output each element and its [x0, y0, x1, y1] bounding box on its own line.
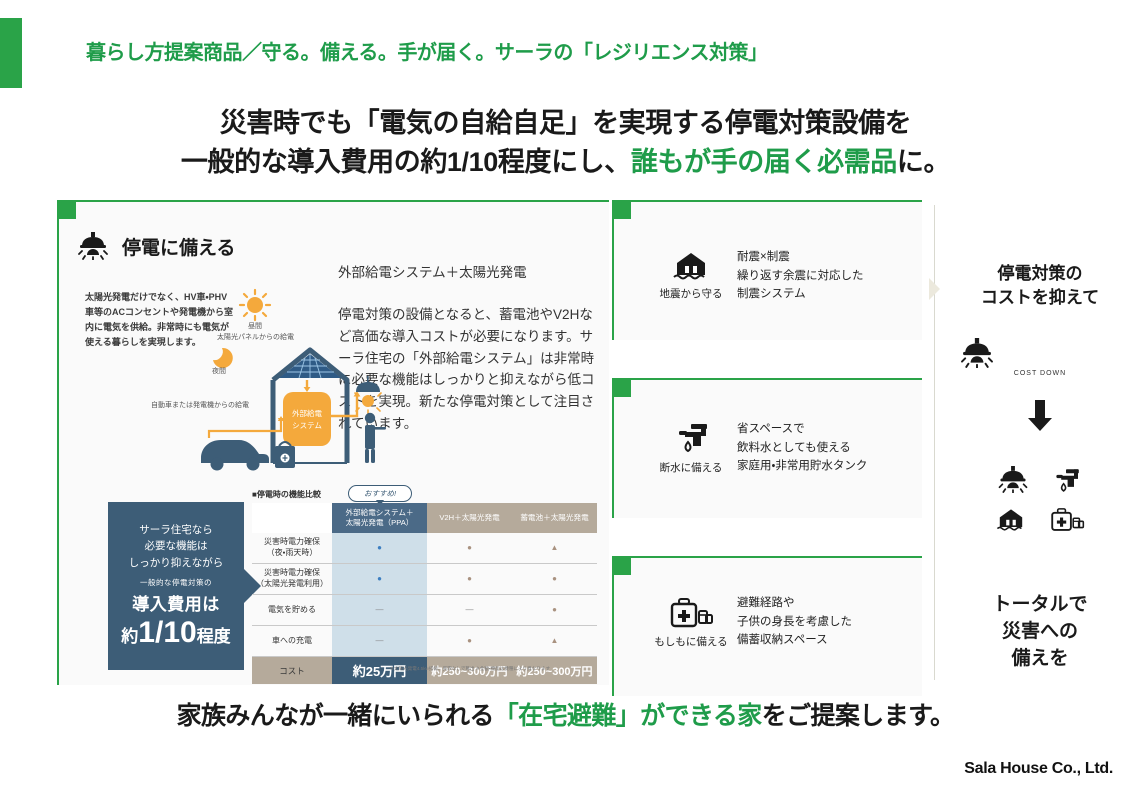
faucet-icon — [645, 420, 737, 456]
feature-water: 断水に備える 省スペースで 飲料水としても使える 家庭用・非常用貯水タンク — [645, 420, 867, 476]
feature-text: 省スペースで 飲料水としても使える 家庭用・非常用貯水タンク — [737, 420, 867, 476]
page-headline: 災害時でも「電気の自給自足」を実現する停電対策設備を 一般的な導入費用の約1/1… — [0, 104, 1131, 182]
feature-text: 耐震×制震 繰り返す余震に対応した 制震システム — [737, 248, 864, 304]
svg-text:システム: システム — [292, 421, 322, 430]
car-icon — [201, 440, 269, 471]
feature-text-line2: 子供の身長を考慮した — [737, 613, 852, 632]
panel-top-border — [612, 378, 922, 380]
cell-ppa: ● — [332, 533, 427, 564]
headline-line-2: 一般的な導入費用の約1/10程度にし、誰もが手の届く必需品に。 — [0, 143, 1131, 182]
feature-text-line3: 制震システム — [737, 285, 864, 304]
right-column-footer-line1: トータルで — [960, 592, 1120, 619]
table-header-battery: 蓄電池＋太陽光発電 — [512, 503, 597, 533]
green-accent-bar — [0, 18, 22, 88]
sun-icon — [240, 290, 270, 320]
table-header-blank — [252, 503, 332, 533]
panel-corner-marker — [612, 556, 631, 575]
headline-line-1: 災害時でも「電気の自給自足」を実現する停電対策設備を — [0, 104, 1131, 143]
cost-callout-line5: 導入費用は — [132, 590, 220, 615]
feature-text-line2: 繰り返す余震に対応した — [737, 267, 864, 286]
cost-row-label: コスト — [252, 657, 332, 685]
left-panel-heading: 停電に備える — [78, 232, 235, 260]
row-label: 車への充電 — [252, 626, 332, 657]
house-power-diagram: 外部給電 システム — [195, 288, 425, 478]
row-label: 電気を貯める — [252, 595, 332, 626]
person-figure — [365, 413, 386, 463]
right-column-title-line1: 停電対策の — [960, 262, 1120, 286]
company-logo-text: Sala House Co., Ltd. — [964, 760, 1113, 778]
tagline-part-a: 家族みんなが一緒にいられる — [177, 702, 494, 730]
moon-icon — [213, 348, 233, 368]
diagram-moon-label: 夜間 — [199, 366, 239, 376]
left-panel-subheading: 外部給電システム＋太陽光発電 — [338, 262, 600, 284]
tagline-part-d: をご提案します。 — [762, 702, 955, 730]
panel-left-border — [612, 378, 614, 518]
panel-left-border — [57, 200, 59, 685]
feature-stockpile: もしもに備える 避難経路や 子供の身長を考慮した 備蓄収納スペース — [645, 594, 852, 650]
first-aid-kit-icon — [1049, 505, 1085, 533]
feature-text-line1: 省スペースで — [737, 420, 867, 439]
headline-line-2-accent: 誰もが手の届く必需品 — [631, 147, 897, 177]
panel-corner-marker — [612, 378, 631, 397]
cell-battery: ▲ — [512, 626, 597, 657]
cost-callout-line4: 一般的な停電対策の — [140, 577, 212, 588]
row-label: 災害時電力確保 （夜・雨天時） — [252, 533, 332, 564]
down-arrow-icon — [960, 400, 1120, 432]
feature-text-line1: 避難経路や — [737, 594, 852, 613]
panel-top-border — [612, 200, 922, 202]
first-aid-kit-icon — [645, 594, 737, 630]
cell-v2h: ● — [427, 564, 512, 595]
right-column-rail-notch — [929, 278, 940, 300]
faucet-icon — [1050, 466, 1082, 495]
feature-icon-label: 地震から守る — [645, 286, 737, 301]
panel-corner-marker — [612, 200, 631, 219]
panel-corner-marker — [57, 200, 76, 219]
house-flood-icon — [995, 505, 1027, 533]
kicker-text: 暮らし方提案商品／守る。備える。手が届く。サーラの「レジリエンス対策」 — [86, 36, 768, 65]
headline-line-2-plain: 一般的な導入費用の約1/10程度にし、 — [181, 147, 631, 177]
feature-text-line2: 飲料水としても使える — [737, 439, 867, 458]
summary-icon-row — [960, 505, 1120, 533]
cell-v2h: — — [427, 595, 512, 626]
panel-top-border — [612, 556, 922, 558]
cost-degree: 程度 — [197, 627, 231, 646]
cell-v2h: ● — [427, 626, 512, 657]
right-column-title-line2: コストを抑えて — [960, 286, 1120, 310]
feature-icon-label: 断水に備える — [645, 460, 737, 475]
cell-battery: ● — [512, 564, 597, 595]
summary-icon-grid — [960, 466, 1120, 543]
table-row: 車への充電 — ● ▲ — [252, 626, 597, 657]
feature-text-line1: 耐震×制震 — [737, 248, 864, 267]
left-panel-title: 停電に備える — [122, 233, 235, 260]
panel-left-border — [612, 556, 614, 696]
feature-text-line3: 家庭用・非常用貯水タンク — [737, 457, 867, 476]
footer-tagline: 家族みんなが一緒にいられる「在宅避難」ができる家をご提案します。 — [0, 696, 1131, 732]
table-row: 電気を貯める — — ● — [252, 595, 597, 626]
lamp-icon — [960, 338, 1120, 368]
cell-ppa: — — [332, 595, 427, 626]
diagram-moon-sublabel: 自動車または発電機からの給電 — [135, 400, 265, 410]
svg-text:外部給電: 外部給電 — [292, 408, 322, 418]
cost-callout: サーラ住宅なら 必要な機能は しっかり抑えながら 一般的な停電対策の 導入費用は… — [108, 502, 244, 670]
feature-icon-wrap: もしもに備える — [645, 594, 737, 649]
cost-down-label: COST DOWN — [960, 370, 1120, 377]
cell-v2h: ● — [427, 533, 512, 564]
house-flood-icon — [645, 248, 737, 282]
feature-text-line3: 備蓄収納スペース — [737, 631, 852, 650]
cost-callout-fraction-row: 約1/10程度 — [121, 616, 230, 650]
cell-ppa: — — [332, 626, 427, 657]
table-header-v2h: V2H＋太陽光発電 — [427, 503, 512, 533]
feature-earthquake: 地震から守る 耐震×制震 繰り返す余震に対応した 制震システム — [645, 248, 864, 304]
row-label: 災害時電力確保 （太陽光発電利用） — [252, 564, 332, 595]
table-caption: ■停電時の機能比較 — [252, 489, 321, 500]
feature-icon-wrap: 地震から守る — [645, 248, 737, 301]
right-column-rail — [934, 205, 935, 680]
cost-fraction: 1/10 — [138, 616, 196, 649]
table-header-row: 外部給電システム＋ 太陽光発電（PPA） V2H＋太陽光発電 蓄電池＋太陽光発電 — [252, 503, 597, 533]
diagram-sun-label: 昼間 — [235, 321, 275, 331]
recommend-badge: おすすめ! — [348, 485, 412, 502]
diagram-sun-sublabel: 太陽光パネルからの給電 — [203, 332, 308, 342]
comparison-table: 外部給電システム＋ 太陽光発電（PPA） V2H＋太陽光発電 蓄電池＋太陽光発電… — [252, 503, 597, 684]
table-footnote: ※太陽光発電4.5kw搭載、買取なしで算出 ※金額・機能は機種により異なります — [390, 666, 550, 672]
cost-callout-line3: しっかり抑えながら — [129, 555, 224, 571]
tagline-part-c: ができる家 — [640, 702, 762, 730]
right-column-footer-line3: 備えを — [960, 646, 1120, 673]
cell-ppa: ● — [332, 564, 427, 595]
panel-left-border — [612, 200, 614, 340]
cost-callout-line2: 必要な機能は — [145, 538, 208, 554]
cell-battery: ▲ — [512, 533, 597, 564]
right-column-footer: トータルで 災害への 備えを — [960, 592, 1120, 673]
panel-top-border — [57, 200, 609, 202]
feature-icon-label: もしもに備える — [645, 634, 737, 649]
cell-battery: ● — [512, 595, 597, 626]
right-column-title: 停電対策の コストを抑えて — [960, 262, 1120, 310]
tagline-part-b: 「在宅避難」 — [494, 702, 640, 730]
headline-line-2-tail: に。 — [897, 147, 950, 177]
feature-icon-wrap: 断水に備える — [645, 420, 737, 475]
cost-approx: 約 — [121, 627, 138, 646]
lamp-icon — [78, 232, 108, 260]
table-header-ppa: 外部給電システム＋ 太陽光発電（PPA） — [332, 503, 427, 533]
table-row: 災害時電力確保 （太陽光発電利用） ● ● ● — [252, 564, 597, 595]
feature-text: 避難経路や 子供の身長を考慮した 備蓄収納スペース — [737, 594, 852, 650]
lamp-icon — [998, 466, 1028, 495]
summary-icon-row — [960, 466, 1120, 495]
right-column-footer-line2: 災害への — [960, 619, 1120, 646]
cost-down-block: COST DOWN — [960, 338, 1120, 377]
table-row: 災害時電力確保 （夜・雨天時） ● ● ▲ — [252, 533, 597, 564]
cost-callout-line1: サーラ住宅なら — [139, 522, 213, 538]
